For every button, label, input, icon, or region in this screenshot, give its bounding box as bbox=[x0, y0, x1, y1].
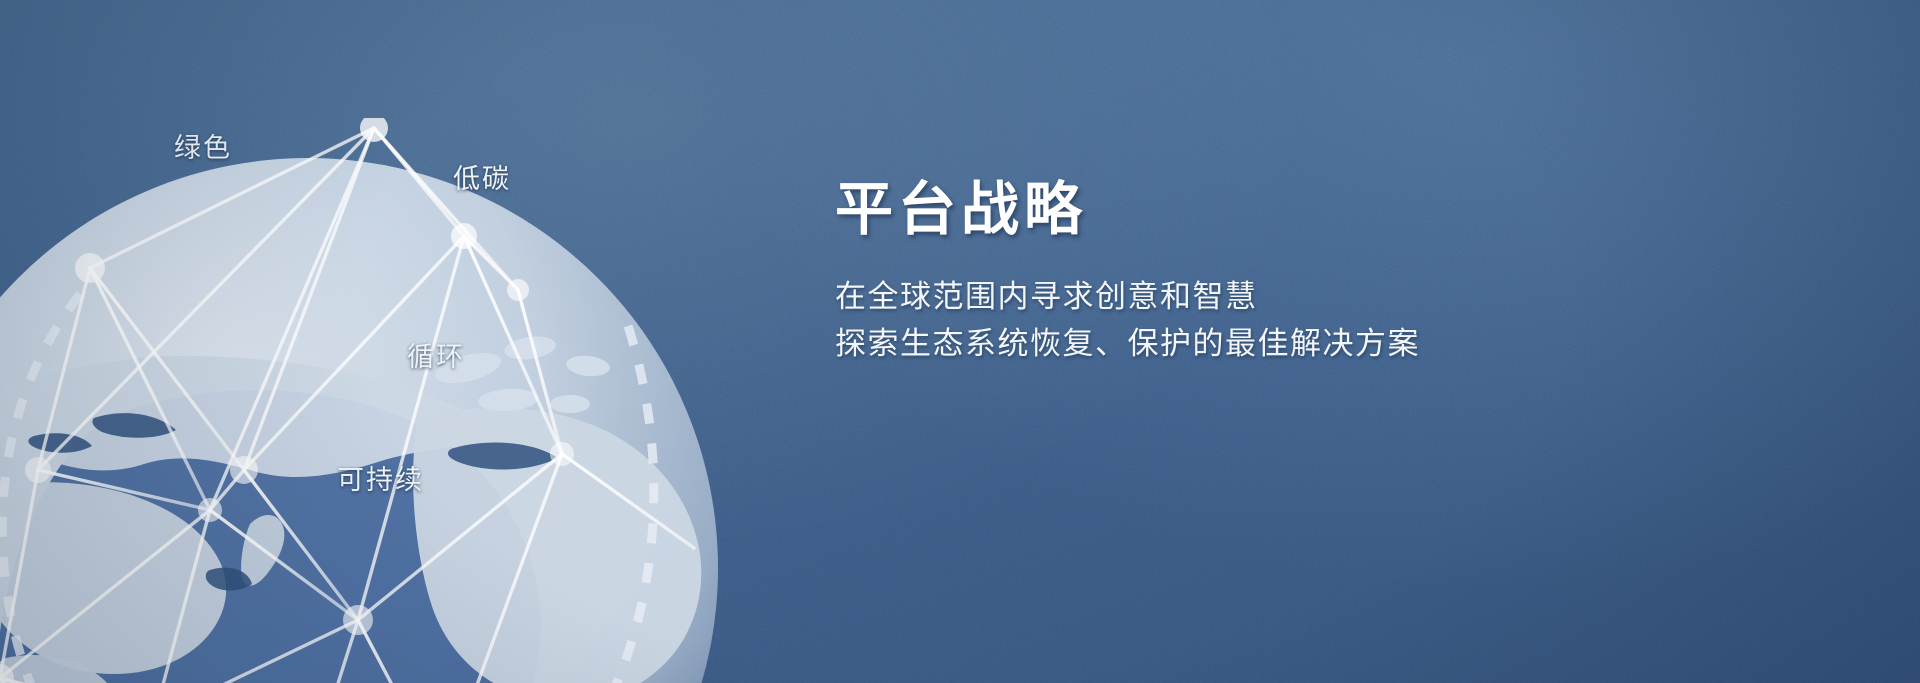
hero-subtitle-line-1: 在全球范围内寻求创意和智慧 bbox=[835, 273, 1735, 320]
globe-graphic bbox=[0, 118, 758, 683]
globe-label-low-carbon: 低碳 bbox=[453, 157, 511, 196]
globe-label-sustainable: 可持续 bbox=[337, 458, 424, 497]
globe-label-green: 绿色 bbox=[174, 126, 232, 165]
globe-label-recycle: 循环 bbox=[407, 335, 465, 374]
hero-text-block: 平台战略 在全球范围内寻求创意和智慧 探索生态系统恢复、保护的最佳解决方案 bbox=[835, 178, 1735, 367]
hero-banner: 绿色 低碳 循环 可持续 平台战略 在全球范围内寻求创意和智慧 探索生态系统恢复… bbox=[0, 0, 1920, 683]
page-title: 平台战略 bbox=[835, 178, 1735, 243]
hero-subtitles: 在全球范围内寻求创意和智慧 探索生态系统恢复、保护的最佳解决方案 bbox=[835, 273, 1735, 367]
hero-subtitle-line-2: 探索生态系统恢复、保护的最佳解决方案 bbox=[835, 320, 1735, 367]
